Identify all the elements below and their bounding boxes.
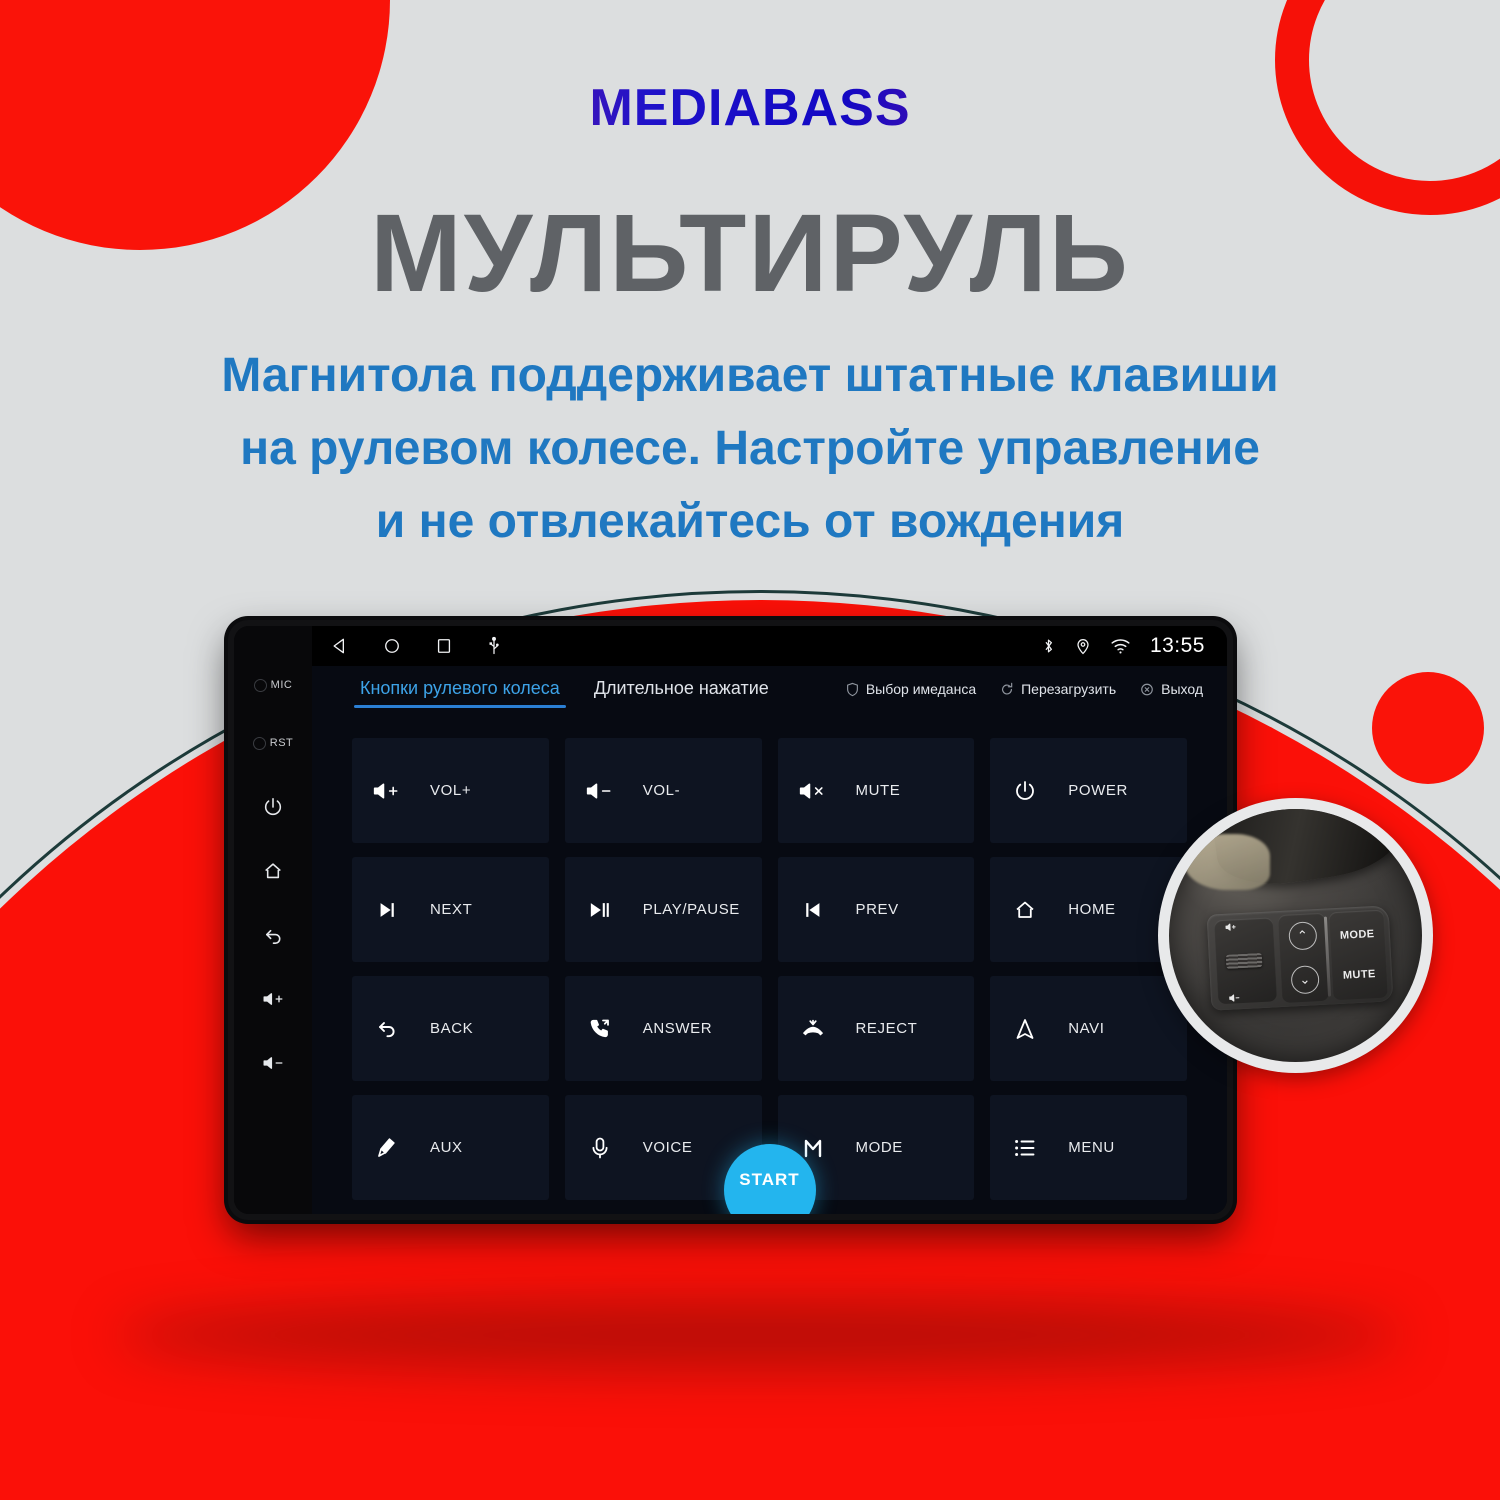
grid-label-reject: REJECT xyxy=(856,1020,918,1037)
hardware-bezel: MIC RST xyxy=(234,626,312,1214)
action-buttons: Выбор имеданса Перезагрузить xyxy=(846,678,1203,697)
microphone-icon xyxy=(583,1136,617,1160)
next-track-icon xyxy=(370,899,404,921)
subtitle-block: Магнитола поддерживает штатные клавиши н… xyxy=(130,340,1370,559)
steering-mute-label: MUTE xyxy=(1343,968,1376,982)
grid-label-vol-up: VOL+ xyxy=(430,782,471,799)
steering-vol-down-label xyxy=(1229,993,1240,1003)
shield-icon xyxy=(846,682,859,697)
subtitle-line-3: и не отвлекайтесь от вождения xyxy=(130,486,1370,559)
tab-steering-wheel-buttons[interactable]: Кнопки рулевого колеса xyxy=(354,678,566,708)
steering-wheel-inset: ⌃ ⌄ MODE MUTE xyxy=(1158,798,1433,1073)
back-arrow-icon xyxy=(370,1017,404,1041)
bezel-volume-down-button[interactable] xyxy=(234,1034,312,1092)
bezel-home-button[interactable] xyxy=(234,842,312,900)
grid-button-navi[interactable]: NAVI xyxy=(990,976,1187,1081)
tabs-bar: Кнопки рулевого колеса Длительное нажати… xyxy=(312,666,1227,722)
grid-label-voice: VOICE xyxy=(643,1139,693,1156)
grid-button-aux[interactable]: AUX xyxy=(352,1095,549,1200)
grid-button-vol-down[interactable]: VOL- xyxy=(565,738,762,843)
play-pause-icon xyxy=(583,899,617,921)
bluetooth-icon xyxy=(1041,636,1056,656)
grid-button-next[interactable]: NEXT xyxy=(352,857,549,962)
steering-wheel-photo: ⌃ ⌄ MODE MUTE xyxy=(1169,809,1422,1062)
steering-mode-label: MODE xyxy=(1340,928,1375,942)
brand-logo: MEDIABASS xyxy=(0,78,1500,138)
back-icon xyxy=(262,924,285,947)
action-exit[interactable]: Выход xyxy=(1140,681,1203,697)
grid-button-play-pause[interactable]: PLAY/PAUSE xyxy=(565,857,762,962)
phone-reject-icon xyxy=(796,1018,830,1040)
volume-down-icon xyxy=(261,1054,285,1072)
home-icon xyxy=(262,860,284,882)
power-icon xyxy=(1008,779,1042,803)
grid-label-power: POWER xyxy=(1068,782,1128,799)
steering-rocker-knurl xyxy=(1226,953,1263,968)
grid-button-menu[interactable]: MENU xyxy=(990,1095,1187,1200)
prev-track-icon xyxy=(796,899,830,921)
grid-label-answer: ANSWER xyxy=(643,1020,712,1037)
steering-seek-arrows: ⌃ ⌄ xyxy=(1278,913,1330,1004)
page-title: МУЛЬТИРУЛЬ xyxy=(0,196,1500,312)
grid-label-vol-down: VOL- xyxy=(643,782,680,799)
tab-long-press[interactable]: Длительное нажатие xyxy=(588,678,775,708)
usb-icon[interactable] xyxy=(486,636,502,656)
steering-vol-up-label xyxy=(1225,923,1236,933)
wifi-icon xyxy=(1110,637,1131,655)
status-clock: 13:55 xyxy=(1150,634,1205,658)
device-shadow xyxy=(115,1300,1405,1370)
grid-button-answer[interactable]: ANSWER xyxy=(565,976,762,1081)
home-circle-icon[interactable] xyxy=(382,636,402,656)
action-reboot-label: Перезагрузить xyxy=(1021,681,1116,697)
bezel-mic-label: MIC xyxy=(271,679,293,691)
menu-list-icon xyxy=(1008,1137,1042,1159)
android-nav-buttons xyxy=(330,636,502,656)
grid-label-play-pause: PLAY/PAUSE xyxy=(643,901,740,918)
grid-label-menu: MENU xyxy=(1068,1139,1115,1156)
bezel-reset[interactable]: RST xyxy=(234,714,312,772)
recents-square-icon[interactable] xyxy=(434,636,454,656)
grid-label-prev: PREV xyxy=(856,901,899,918)
grid-label-mode: MODE xyxy=(856,1139,903,1156)
chevron-up-icon: ⌃ xyxy=(1288,921,1317,950)
grid-label-navi: NAVI xyxy=(1068,1020,1104,1037)
refresh-icon xyxy=(1000,682,1014,697)
car-head-unit: MIC RST xyxy=(228,620,1233,1220)
grid-label-aux: AUX xyxy=(430,1139,463,1156)
bezel-rst-label: RST xyxy=(270,737,294,749)
grid-button-mute[interactable]: MUTE xyxy=(778,738,975,843)
status-indicators: 13:55 xyxy=(1041,634,1205,658)
volume-down-icon xyxy=(583,781,617,801)
action-impedance-select[interactable]: Выбор имеданса xyxy=(846,681,976,697)
close-circle-icon xyxy=(1140,682,1154,697)
bezel-back-button[interactable] xyxy=(234,906,312,964)
grid-label-home: HOME xyxy=(1068,901,1115,918)
aux-plug-icon xyxy=(370,1136,404,1160)
red-circle-small-right xyxy=(1372,672,1484,784)
power-icon xyxy=(262,796,284,818)
bezel-volume-up-button[interactable] xyxy=(234,970,312,1028)
back-triangle-icon[interactable] xyxy=(330,636,350,656)
steering-control-panel: ⌃ ⌄ MODE MUTE xyxy=(1207,905,1394,1011)
steering-button-grid: VOL+ VOL- MUTE xyxy=(312,722,1227,1214)
steering-mode-mute-block: MODE MUTE xyxy=(1329,910,1388,1001)
android-status-bar: 13:55 xyxy=(312,626,1227,666)
photo-background-blur xyxy=(1184,834,1270,890)
head-unit-inner: MIC RST xyxy=(234,626,1227,1214)
chevron-down-icon: ⌄ xyxy=(1291,965,1320,994)
volume-up-icon xyxy=(370,781,404,801)
grid-label-mute: MUTE xyxy=(856,782,901,799)
grid-button-reject[interactable]: REJECT xyxy=(778,976,975,1081)
bezel-power-button[interactable] xyxy=(234,778,312,836)
volume-up-icon xyxy=(261,990,285,1008)
mic-hole-icon xyxy=(254,679,267,692)
grid-label-back: BACK xyxy=(430,1020,473,1037)
grid-button-vol-up[interactable]: VOL+ xyxy=(352,738,549,843)
action-exit-label: Выход xyxy=(1161,681,1203,697)
subtitle-line-1: Магнитола поддерживает штатные клавиши xyxy=(130,340,1370,413)
home-icon xyxy=(1008,898,1042,922)
volume-mute-icon xyxy=(796,781,830,801)
subtitle-line-2: на рулевом колесе. Настройте управление xyxy=(130,413,1370,486)
grid-button-prev[interactable]: PREV xyxy=(778,857,975,962)
action-reboot[interactable]: Перезагрузить xyxy=(1000,681,1116,697)
action-impedance-label: Выбор имеданса xyxy=(866,681,976,697)
phone-answer-icon xyxy=(583,1017,617,1041)
grid-label-next: NEXT xyxy=(430,901,472,918)
location-pin-icon xyxy=(1075,636,1091,656)
navigation-arrow-icon xyxy=(1008,1017,1042,1041)
touch-screen: 13:55 Кнопки рулевого колеса Длительное … xyxy=(312,626,1227,1214)
bezel-mic: MIC xyxy=(234,656,312,714)
reset-hole-icon xyxy=(253,737,266,750)
grid-button-back[interactable]: BACK xyxy=(352,976,549,1081)
grid-button-power[interactable]: POWER xyxy=(990,738,1187,843)
steering-volume-rocker xyxy=(1215,917,1278,1005)
